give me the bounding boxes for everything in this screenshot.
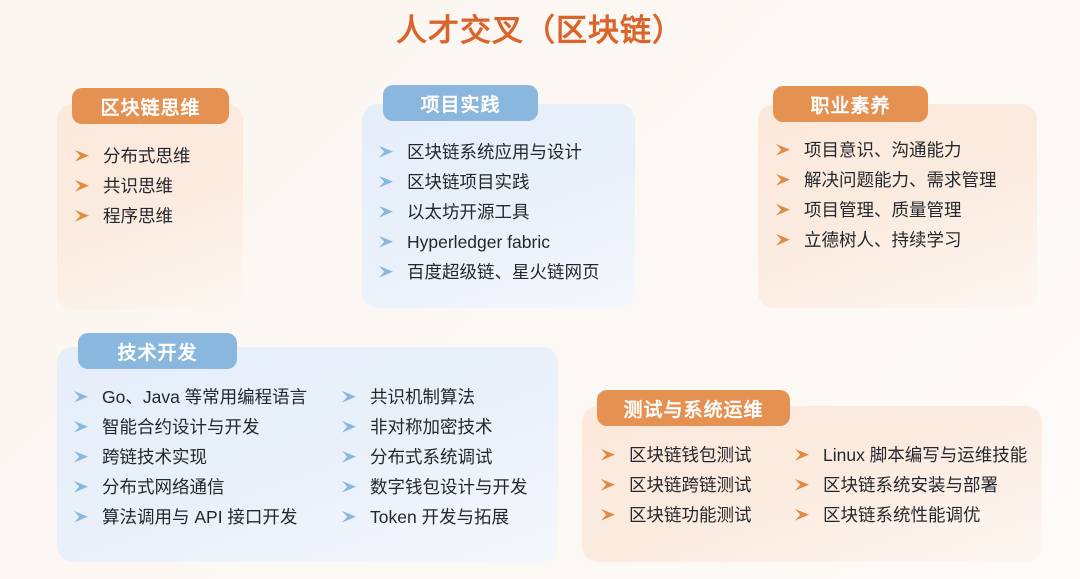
list-item-label: 算法调用与 API 接口开发 [102,502,297,532]
list-item-label: 项目管理、质量管理 [804,195,962,225]
list-item[interactable]: 分布式网络通信 [73,472,341,502]
list-item[interactable]: 分布式系统调试 [341,442,528,472]
arrow-right-icon [341,390,359,404]
list-item-label: 分布式网络通信 [102,472,225,502]
list-item[interactable]: Linux 脚本编写与运维技能 [794,440,1027,470]
list-item[interactable]: Go、Java 等常用编程语言 [73,382,341,412]
list-item-label: 非对称加密技术 [370,412,493,442]
arrow-right-icon [794,448,812,462]
arrow-right-icon [378,145,396,159]
list-item-label: Go、Java 等常用编程语言 [102,382,307,412]
arrow-right-icon [74,179,92,193]
list-blockchain-thinking: 分布式思维 共识思维 程序思维 [74,141,191,231]
arrow-right-icon [73,420,91,434]
arrow-right-icon [73,390,91,404]
list-item-label: 区块链系统安装与部署 [823,470,998,500]
arrow-right-icon [794,478,812,492]
arrow-right-icon [775,233,793,247]
card-header-professional-quality[interactable]: 职业素养 [773,86,928,122]
list-project-practice: 区块链系统应用与设计 区块链项目实践 以太坊开源工具 Hyperledger f… [378,137,600,287]
arrow-right-icon [74,149,92,163]
list-item-label: 程序思维 [103,201,173,231]
list-item[interactable]: 区块链功能测试 [600,500,794,530]
arrow-right-icon [378,205,396,219]
list-item[interactable]: 以太坊开源工具 [378,197,600,227]
arrow-right-icon [341,510,359,524]
list-testing-and-ops: 区块链钱包测试 区块链跨链测试 区块链功能测试 Linux 脚本编写与运维 [600,440,1027,530]
card-header-project-practice[interactable]: 项目实践 [383,85,538,121]
list-technical-development: Go、Java 等常用编程语言 智能合约设计与开发 跨链技术实现 分布式网络通信 [73,382,528,532]
list-item[interactable]: 分布式思维 [74,141,191,171]
arrow-right-icon [775,203,793,217]
list-item-label: 共识机制算法 [370,382,475,412]
list-item[interactable]: 区块链系统应用与设计 [378,137,600,167]
list-item[interactable]: 数字钱包设计与开发 [341,472,528,502]
card-header-technical-development[interactable]: 技术开发 [78,333,237,369]
list-item-label: 解决问题能力、需求管理 [804,165,997,195]
arrow-right-icon [341,450,359,464]
list-item-label: 区块链功能测试 [629,500,752,530]
list-item[interactable]: 立德树人、持续学习 [775,225,997,255]
list-item-label: 区块链系统应用与设计 [407,137,582,167]
arrow-right-icon [341,480,359,494]
list-item[interactable]: 区块链钱包测试 [600,440,794,470]
list-item-label: Hyperledger fabric [407,227,550,257]
list-item[interactable]: 区块链系统安装与部署 [794,470,1027,500]
list-technical-development-col1: Go、Java 等常用编程语言 智能合约设计与开发 跨链技术实现 分布式网络通信 [73,382,341,532]
arrow-right-icon [600,448,618,462]
list-item-label: 分布式系统调试 [370,442,493,472]
card-header-blockchain-thinking[interactable]: 区块链思维 [72,88,229,124]
arrow-right-icon [378,235,396,249]
list-item-label: 跨链技术实现 [102,442,207,472]
list-item[interactable]: 非对称加密技术 [341,412,528,442]
list-item-label: 分布式思维 [103,141,191,171]
arrow-right-icon [600,478,618,492]
arrow-right-icon [74,209,92,223]
list-item-label: 共识思维 [103,171,173,201]
list-item[interactable]: 共识思维 [74,171,191,201]
list-item-label: 立德树人、持续学习 [804,225,962,255]
list-item-label: Linux 脚本编写与运维技能 [823,440,1027,470]
list-item-label: 区块链跨链测试 [629,470,752,500]
arrow-right-icon [73,450,91,464]
arrow-right-icon [378,175,396,189]
list-professional-quality: 项目意识、沟通能力 解决问题能力、需求管理 项目管理、质量管理 立德树人、持续学… [775,135,997,255]
list-item-label: Token 开发与拓展 [370,502,509,532]
list-testing-and-ops-col2: Linux 脚本编写与运维技能 区块链系统安装与部署 区块链系统性能调优 [794,440,1027,530]
list-item[interactable]: 百度超级链、星火链网页 [378,257,600,287]
list-item[interactable]: 算法调用与 API 接口开发 [73,502,341,532]
arrow-right-icon [794,508,812,522]
list-item[interactable]: 智能合约设计与开发 [73,412,341,442]
arrow-right-icon [73,510,91,524]
list-technical-development-col2: 共识机制算法 非对称加密技术 分布式系统调试 数字钱包设计与开发 [341,382,528,532]
arrow-right-icon [775,173,793,187]
list-item-label: 区块链钱包测试 [629,440,752,470]
list-item-label: 区块链项目实践 [407,167,530,197]
list-item-label: 数字钱包设计与开发 [370,472,528,502]
list-item-label: 区块链系统性能调优 [823,500,981,530]
list-item-label: 以太坊开源工具 [407,197,530,227]
arrow-right-icon [600,508,618,522]
list-item[interactable]: 解决问题能力、需求管理 [775,165,997,195]
card-header-testing-and-ops[interactable]: 测试与系统运维 [597,390,790,426]
list-item[interactable]: 项目意识、沟通能力 [775,135,997,165]
list-item[interactable]: 共识机制算法 [341,382,528,412]
list-item-label: 项目意识、沟通能力 [804,135,962,165]
list-item[interactable]: 区块链项目实践 [378,167,600,197]
arrow-right-icon [341,420,359,434]
list-item[interactable]: Hyperledger fabric [378,227,600,257]
list-item-label: 百度超级链、星火链网页 [407,257,600,287]
list-item[interactable]: 跨链技术实现 [73,442,341,472]
list-item[interactable]: Token 开发与拓展 [341,502,528,532]
poster-root: 人才交叉（区块链） 区块链思维 分布式思维 共识思维 程序思维 项目实践 [0,0,1080,579]
list-item[interactable]: 项目管理、质量管理 [775,195,997,225]
arrow-right-icon [378,265,396,279]
page-title: 人才交叉（区块链） [0,8,1080,54]
list-item-label: 智能合约设计与开发 [102,412,260,442]
list-item[interactable]: 区块链跨链测试 [600,470,794,500]
list-item[interactable]: 区块链系统性能调优 [794,500,1027,530]
list-testing-and-ops-col1: 区块链钱包测试 区块链跨链测试 区块链功能测试 [600,440,794,530]
arrow-right-icon [73,480,91,494]
list-item[interactable]: 程序思维 [74,201,191,231]
arrow-right-icon [775,143,793,157]
